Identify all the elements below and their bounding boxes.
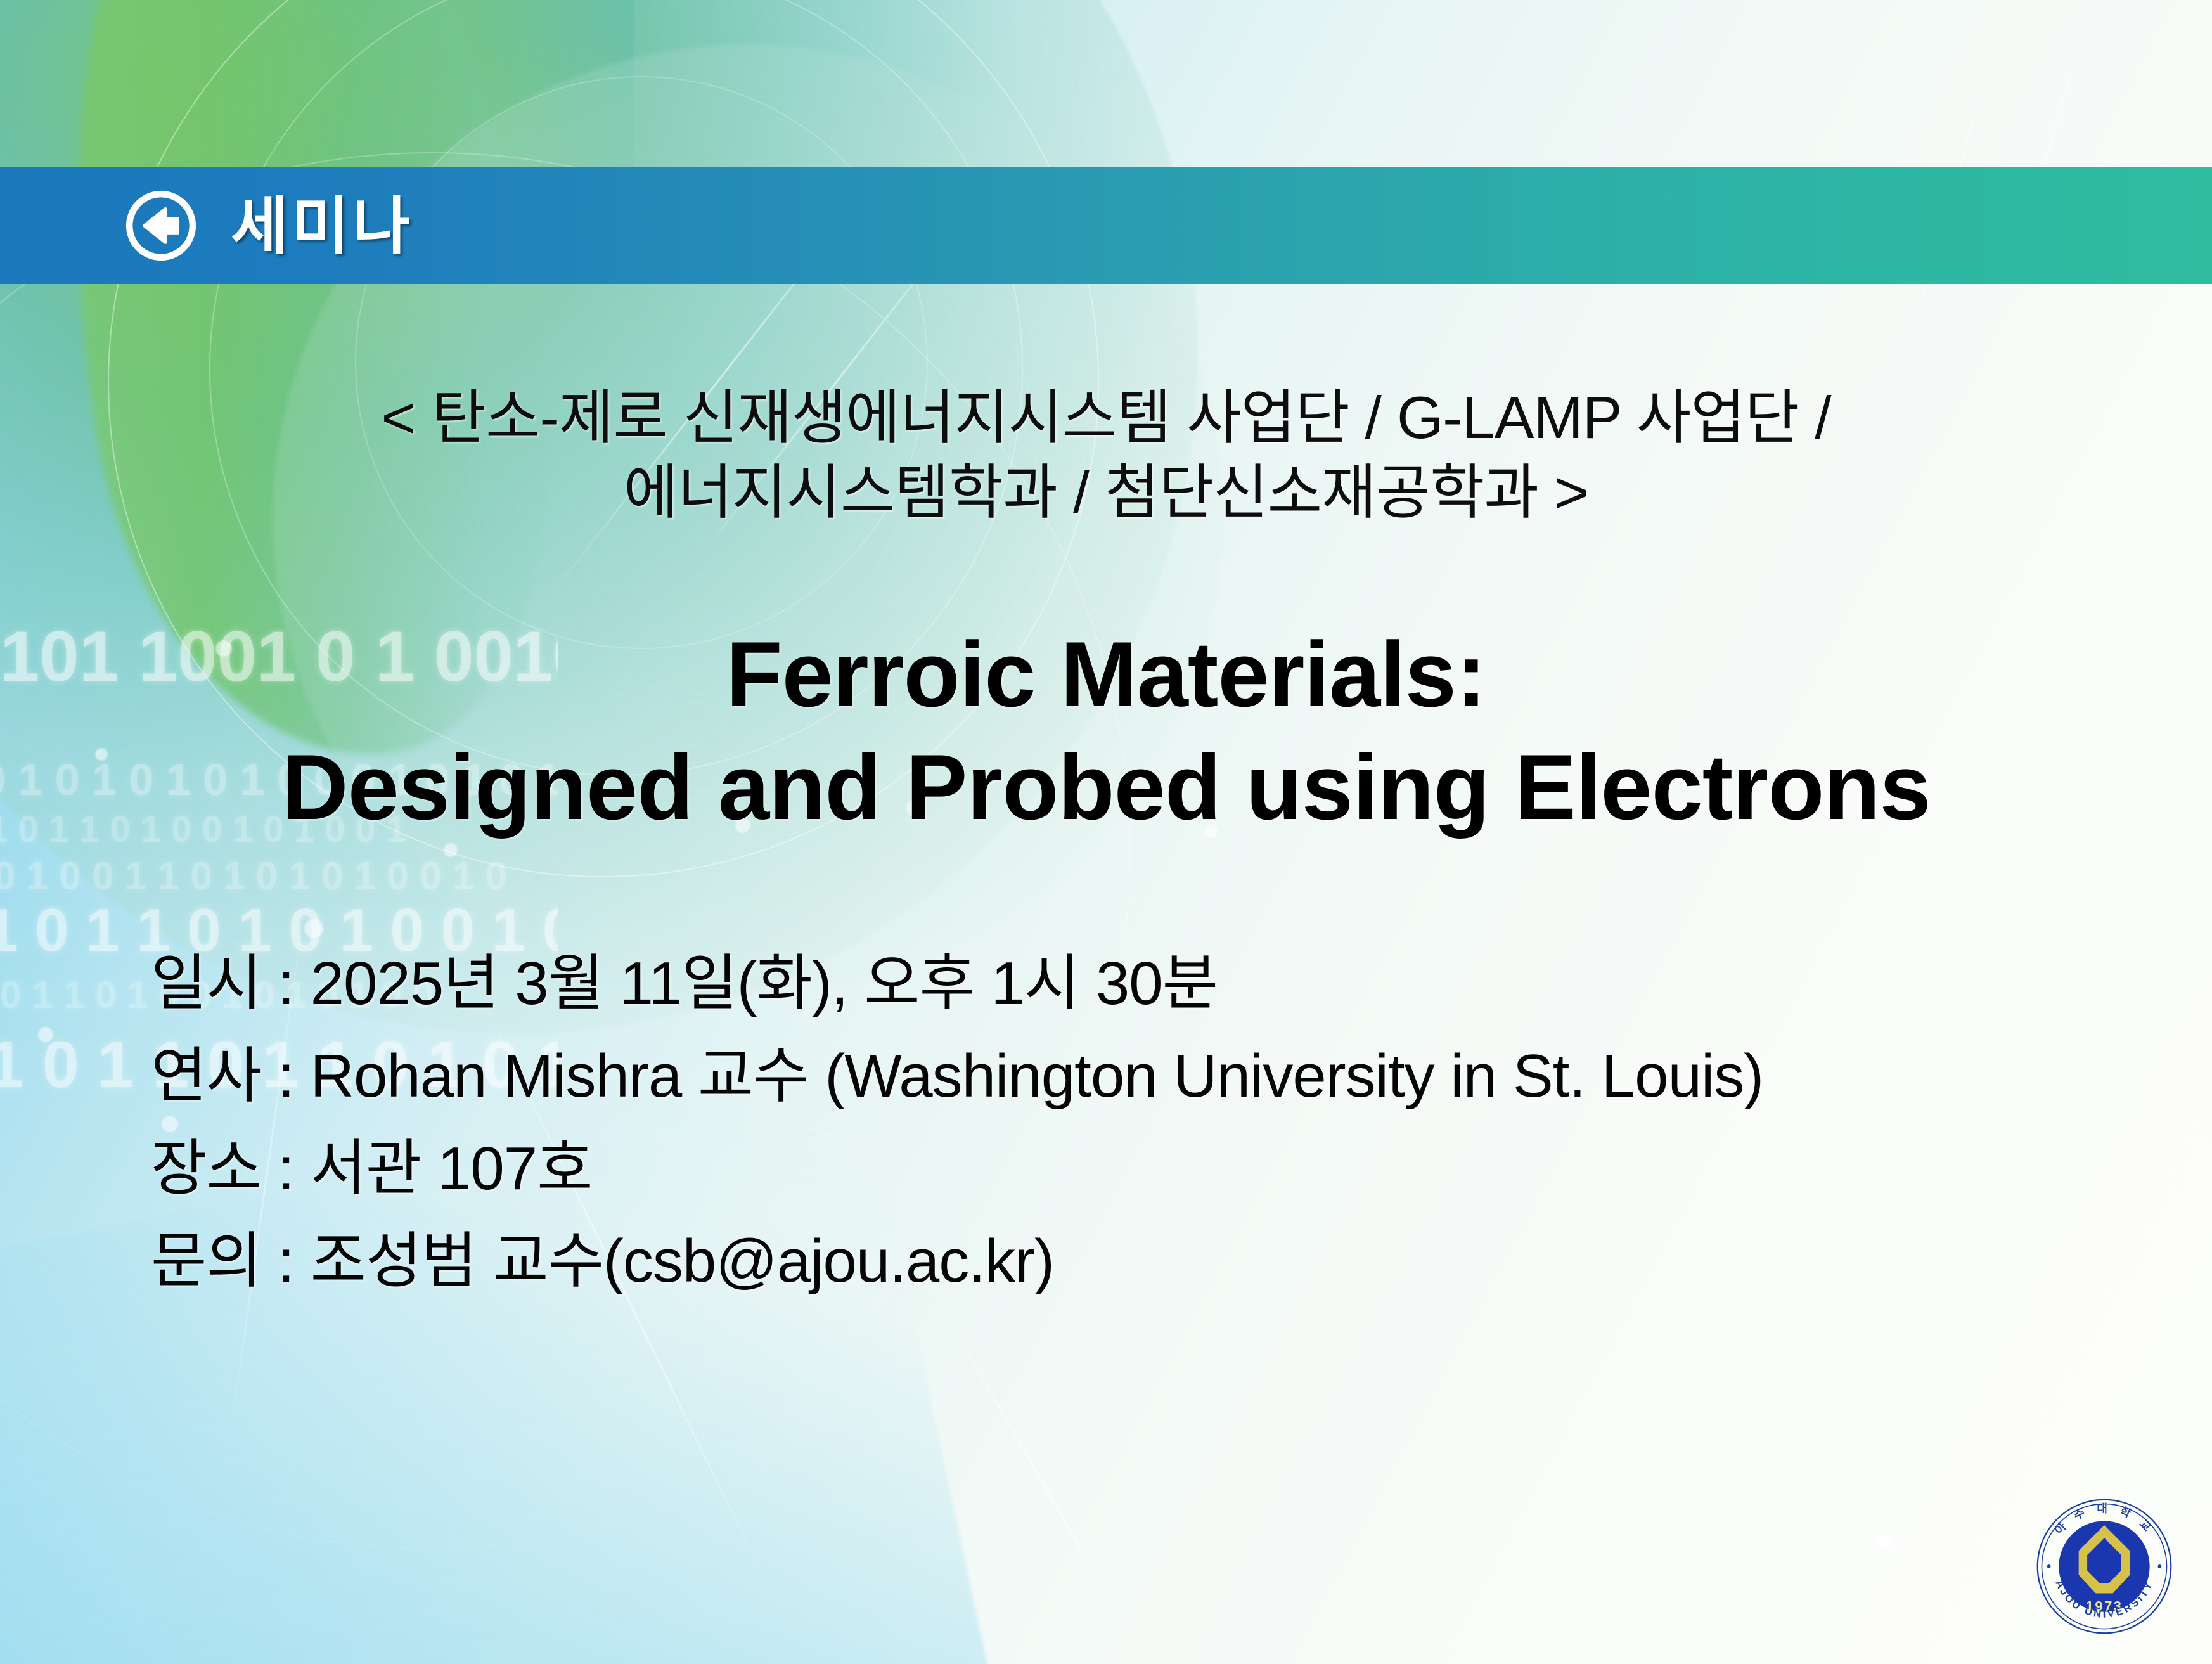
organization-line-1: < 탄소-제로 신재생에너지시스템 사업단 / G-LAMP 사업단 / xyxy=(381,384,1830,451)
header-title: 세미나 xyxy=(231,195,413,257)
background-dot xyxy=(1876,1534,1893,1551)
back-arrow-icon[interactable] xyxy=(124,189,198,262)
ajou-university-logo: 1973 아 주 대 학 교 AJOU UNIVERSITY xyxy=(2033,1495,2175,1637)
header-banner: 세미나 xyxy=(0,167,2212,284)
seminar-title: Ferroic Materials: Designed and Probed u… xyxy=(0,531,2212,844)
detail-speaker: 연사 : Rohan Mishra 교수 (Washington Univers… xyxy=(151,1030,2212,1123)
organization-line-2: 에너지시스템학과 / 첨단신소재공학과 > xyxy=(624,459,1588,526)
organization-line: < 탄소-제로 신재생에너지시스템 사업단 / G-LAMP 사업단 / 에너지… xyxy=(0,284,2212,531)
seminar-poster: 101 1001 0 1 001010 10 10 1 0 1 0 1 0 1 … xyxy=(0,0,2212,1664)
seminar-title-line-2: Designed and Probed using Electrons xyxy=(70,731,2142,844)
poster-content: < 탄소-제로 신재생에너지시스템 사업단 / G-LAMP 사업단 / 에너지… xyxy=(0,284,2212,1308)
seminar-title-line-1: Ferroic Materials: xyxy=(70,618,2142,731)
detail-datetime: 일시 : 2025년 3월 11일(화), 오후 1시 30분 xyxy=(151,938,2212,1030)
detail-venue: 장소 : 서관 107호 xyxy=(151,1123,2212,1215)
detail-contact: 문의 : 조성범 교수(csb@ajou.ac.kr) xyxy=(151,1215,2212,1308)
details-block: 일시 : 2025년 3월 11일(화), 오후 1시 30분 연사 : Roh… xyxy=(0,844,2212,1308)
